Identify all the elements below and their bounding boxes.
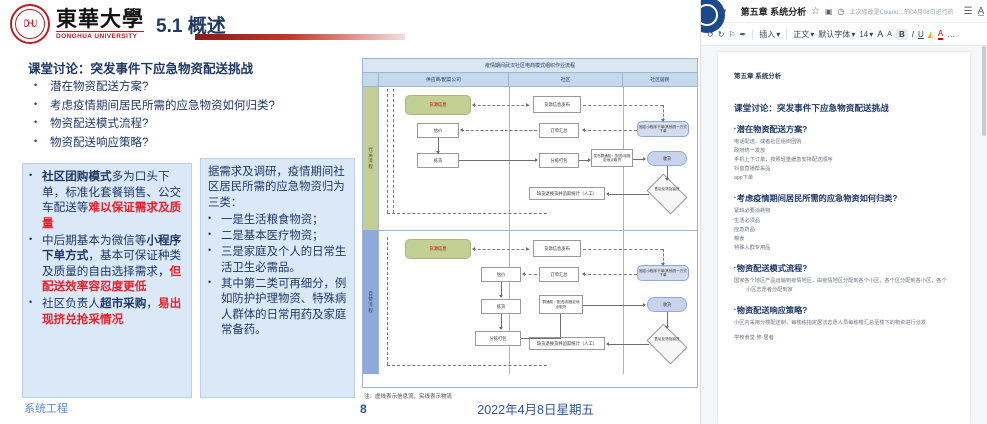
flow-node-publish: 货源信息发布 bbox=[533, 96, 581, 113]
university-seal-icon: DHU bbox=[10, 4, 50, 44]
menu-icon[interactable]: ☰ bbox=[964, 4, 973, 18]
slide-footer-course: 系统工程 bbox=[24, 400, 68, 416]
arrow-icon bbox=[472, 103, 475, 107]
flow-connector bbox=[609, 194, 649, 195]
document-question: 物资配送响应策略? bbox=[734, 304, 956, 316]
flow-node-pick: 拣货 bbox=[417, 153, 459, 168]
arrow-icon bbox=[661, 119, 665, 122]
document-last-modified: 上次修改是Cwario…的04月08日进行的 bbox=[850, 7, 954, 16]
flowchart-column-headers: 供应商/配菜公司 社区 社区居民 bbox=[363, 73, 697, 87]
arrow-icon bbox=[499, 327, 503, 330]
flow-connector bbox=[560, 314, 561, 339]
arrow-icon bbox=[460, 128, 463, 132]
flowchart-band-bottom: 自营流程 bbox=[363, 230, 379, 374]
flow-connector bbox=[521, 338, 561, 339]
flow-connector bbox=[583, 105, 663, 106]
underline-button[interactable]: U bbox=[918, 30, 924, 39]
flowchart-col-residents: 社区居民 bbox=[623, 73, 697, 86]
star-icon[interactable]: ☆ bbox=[811, 4, 820, 18]
document-answer-line: 抖音直播帮采品 bbox=[734, 165, 956, 174]
flow-decision-label: 售后反馈及缺货 bbox=[646, 187, 688, 191]
format-icon[interactable]: A̲ bbox=[978, 4, 985, 18]
arrow-icon bbox=[661, 263, 665, 266]
flow-connector bbox=[583, 130, 637, 131]
document-answer-line: 学校食堂·修·居者 bbox=[734, 334, 956, 343]
callout-box-delivery-modes: 社区团购模式多为口头下单，标准化套餐销售、公交车配送等难以保证需求及质量 中后期… bbox=[22, 163, 192, 398]
flowchart-band-header bbox=[363, 73, 379, 86]
band-label: 自营流程 bbox=[368, 291, 374, 313]
flow-connector bbox=[523, 274, 537, 275]
flow-node-receive: 收货 bbox=[647, 151, 687, 166]
slide-footer-date: 2022年4月8日星期五 bbox=[477, 399, 594, 418]
flow-node-stat: 缺货退换货并追踪统计（人工） bbox=[529, 187, 605, 200]
flow-node-order-summary: 订单汇总 bbox=[539, 123, 579, 138]
font-label: 默认字体 bbox=[818, 29, 850, 40]
flow-connector bbox=[583, 249, 663, 250]
flow-node-confirm-2: 估价 bbox=[481, 267, 521, 282]
chevron-down-icon: ▾ bbox=[851, 30, 855, 39]
font-family-select[interactable]: 默认字体▾ bbox=[818, 29, 855, 40]
flow-node-source: 货源信息 bbox=[405, 95, 471, 115]
document-editor-panel: ⌂ ▾ 第五章 系统分析 ☆ ▣ ◷ 上次修改是Cwario…的04月08日进行… bbox=[701, 0, 987, 424]
decrease-font-icon[interactable]: A bbox=[887, 31, 892, 38]
document-question: 物资配送模式流程? bbox=[734, 262, 956, 274]
flow-node-sort-2: 分拣打包 bbox=[475, 331, 521, 346]
flow-node-order-app-2: 固定小程序下单/其他统一方式下单 bbox=[637, 265, 689, 281]
document-heading: 课堂讨论：突发事件下应急物资配送挑战 bbox=[734, 102, 956, 114]
document-answer-line: 紧缺必要消耗物 bbox=[734, 207, 956, 216]
text-seg: 社区负责人 bbox=[42, 297, 100, 310]
university-logo: 東華大學 DONGHUA UNIVERSITY bbox=[56, 8, 144, 40]
flow-node-sort: 分拣打包 bbox=[539, 153, 579, 168]
chevron-down-icon: ▾ bbox=[869, 30, 873, 39]
document-answer-line: 粮食 bbox=[734, 235, 956, 244]
arrow-icon bbox=[535, 158, 538, 162]
highlight-button[interactable]: ◭ bbox=[928, 30, 934, 39]
logo-ring bbox=[701, 4, 718, 26]
chevron-down-icon: ▾ bbox=[776, 30, 780, 39]
arrow-icon bbox=[526, 247, 529, 251]
flow-connector bbox=[461, 130, 537, 131]
text-seg: 中后期基本为微信等 bbox=[42, 234, 146, 247]
list-item: 社区负责人超市采购，易出现挤兑抢采情况 bbox=[29, 296, 186, 327]
document-question: 考虑疫情期间居民所需的应急物资如何归类? bbox=[734, 192, 956, 204]
flow-node-notify-2: 群通知：配送/用指定地点取货 bbox=[539, 295, 583, 314]
discussion-question-list: 潜在物资配送方案? 考虑疫情期间居民所需的应急物资如何归类? 物资配送模式流程?… bbox=[34, 78, 275, 153]
flow-connector bbox=[387, 89, 388, 213]
divider bbox=[786, 29, 787, 40]
list-item: 二是基本医疗物资； bbox=[208, 228, 348, 244]
arrow-icon bbox=[582, 272, 585, 276]
list-item: 其中第二类可再细分，例如防护护理物资、特殊病人群体的日常用药及家庭常备药。 bbox=[208, 276, 348, 338]
flow-connector bbox=[609, 344, 649, 345]
flow-connector bbox=[583, 274, 637, 275]
arrow-icon bbox=[436, 151, 440, 154]
font-size-select[interactable]: 14▾ bbox=[859, 30, 873, 39]
editor-titlebar: ⌂ ▾ 第五章 系统分析 ☆ ▣ ◷ 上次修改是Cwario…的04月08日进行… bbox=[701, 0, 987, 23]
text-seg: 超市采购 bbox=[100, 297, 146, 310]
flow-node-receive-2: 收货 bbox=[647, 297, 687, 312]
editor-toolbar: ↺ ↻ ⚐ ✒ 插入▾ 正文▾ 默认字体▾ 14▾ A A B I U ◭ A … bbox=[701, 23, 987, 46]
flow-connector bbox=[583, 305, 645, 306]
flow-node-stat-2: 缺货退换货并追踪统计（人工） bbox=[529, 337, 605, 350]
arrow-icon bbox=[499, 295, 503, 298]
presentation-slide: DHU 東華大學 DONGHUA UNIVERSITY 5.1 概述 课堂讨论：… bbox=[0, 0, 701, 424]
list-item: 潜在物资配送方案? bbox=[34, 78, 275, 97]
list-item: 三是家庭及个人的日常生活卫生必需品。 bbox=[208, 244, 348, 276]
university-name-en: DONGHUA UNIVERSITY bbox=[56, 31, 144, 40]
flow-node-pick-2: 拣货 bbox=[481, 299, 521, 314]
style-label: 正文 bbox=[793, 29, 809, 40]
flowchart-col-supplier: 供应商/配菜公司 bbox=[379, 73, 509, 86]
list-item: 中后期基本为微信等小程序下单方式，基本可保证种类及质量的自由选择需求，但配送效率… bbox=[29, 233, 186, 296]
folder-icon[interactable]: ▣ bbox=[825, 4, 833, 18]
flowchart-band-top: 代运流程 bbox=[363, 87, 379, 230]
document-answer-line: 手机上下订单，按照轻重缓急安排配送顺序 bbox=[734, 156, 956, 165]
flow-node-order-app: 固定小程序下单/其他统一方式下单 bbox=[637, 121, 689, 137]
delivery-mode-list: 社区团购模式多为口头下单，标准化套餐销售、公交车配送等难以保证需求及质量 中后期… bbox=[29, 169, 186, 327]
title-underline-bar bbox=[195, 34, 405, 40]
text-seg: 社区团购模式 bbox=[42, 170, 112, 183]
insert-label: 插入 bbox=[759, 29, 775, 40]
arrow-icon bbox=[606, 192, 609, 196]
arrow-icon bbox=[526, 103, 529, 107]
document-answer-line: 应急药品 bbox=[734, 226, 956, 235]
list-item: 一是生活粮食物资； bbox=[208, 212, 348, 228]
category-list: 一是生活粮食物资； 二是基本医疗物资； 三是家庭及个人的日常生活卫生必需品。 其… bbox=[208, 212, 348, 338]
document-answer-line: 电话配送、或者社区组织团购 bbox=[734, 138, 956, 147]
document-title[interactable]: 第五章 系统分析 bbox=[741, 5, 807, 18]
document-answer-line: 小区内采用分楼配送制，每楼栋指定居法志愿人员每栋楼汇总至楼下的物资进行分发 bbox=[734, 319, 956, 328]
flow-node-publish-2: 货源信息发布 bbox=[533, 240, 581, 257]
flowchart-note: 注：虚线表示信息流，实线表示物流 bbox=[364, 392, 452, 400]
arrow-icon bbox=[665, 326, 669, 329]
divider bbox=[752, 29, 753, 40]
discussion-heading: 课堂讨论：突发事件下应急物资配送挑战 bbox=[28, 58, 253, 77]
category-lead-text: 据需求及调研，疫情期间社区居民所需的应急物资归为三类： bbox=[208, 165, 348, 211]
flow-decision-feedback-2 bbox=[646, 323, 687, 364]
chevron-down-icon: ▾ bbox=[810, 30, 814, 39]
bold-button[interactable]: B bbox=[896, 29, 908, 40]
arrow-icon bbox=[606, 342, 609, 346]
callout-box-supply-categories: 据需求及调研，疫情期间社区居民所需的应急物资归为三类： 一是生活粮食物资； 二是… bbox=[200, 158, 355, 398]
document-chapter-title: 第五章 系统分析 bbox=[734, 70, 956, 80]
app-root: DHU 東華大學 DONGHUA UNIVERSITY 5.1 概述 课堂讨论：… bbox=[0, 0, 987, 424]
flowchart-diagram: 疫情期间武汉社区电商模式组织作业流程 供应商/配菜公司 社区 社区居民 代运流程… bbox=[362, 58, 698, 388]
insert-menu[interactable]: 插入▾ bbox=[759, 29, 780, 40]
flow-connector bbox=[459, 160, 537, 161]
text-seg: ， bbox=[146, 297, 158, 310]
flowchart-col-community: 社区 bbox=[509, 73, 623, 86]
flowchart-lane-divider bbox=[379, 230, 697, 231]
flow-decision-label-2: 售后反馈及缺货 bbox=[646, 337, 688, 341]
list-item: 社区团购模式多为口头下单，标准化套餐销售、公交车配送等难以保证需求及质量 bbox=[29, 169, 186, 232]
arrow-icon bbox=[643, 157, 646, 161]
arrow-icon bbox=[522, 272, 525, 276]
document-answer-line: 政府统一发放 bbox=[734, 147, 956, 156]
flow-connector bbox=[387, 365, 547, 366]
flow-connector bbox=[393, 89, 394, 213]
document-answer-line: 国家各个地区产品运输到疫情地区，由疫情地区分配到各个小区，各个区分配到各小区，各… bbox=[734, 277, 956, 286]
increase-font-icon[interactable]: A bbox=[877, 29, 883, 39]
list-item: 物资配送响应策略? bbox=[34, 134, 275, 153]
list-item: 考虑疫情期间居民所需的应急物资如何归类? bbox=[34, 97, 275, 116]
more-options-icon[interactable]: … bbox=[947, 30, 955, 39]
document-answer-line: 生活必须品 bbox=[734, 217, 956, 226]
university-name-cn: 東華大學 bbox=[56, 8, 144, 30]
arrow-icon bbox=[643, 303, 646, 307]
flow-connector bbox=[473, 105, 529, 106]
document-answer-line: 特殊人群专用品 bbox=[734, 244, 956, 253]
arrow-icon bbox=[472, 247, 475, 251]
flow-node-order-summary-2: 订单汇总 bbox=[539, 267, 579, 282]
clock-icon[interactable]: ◷ bbox=[838, 4, 845, 18]
flow-node-confirm: 估价 bbox=[417, 123, 459, 138]
document-page[interactable]: 第五章 系统分析 课堂讨论：突发事件下应急物资配送挑战 潜在物资配送方案? 电话… bbox=[718, 52, 970, 424]
redo-icon[interactable]: ↻ bbox=[718, 30, 725, 39]
font-color-button[interactable]: A bbox=[938, 29, 943, 40]
format-paint-icon[interactable]: ⚐ bbox=[728, 30, 735, 39]
flowchart-title: 疫情期间武汉社区电商模式组织作业流程 bbox=[363, 59, 697, 73]
document-answer-line: 小区志愿者分配到家 bbox=[734, 286, 956, 295]
slide-page-number: 8 bbox=[360, 402, 367, 416]
slide-header: DHU 東華大學 DONGHUA UNIVERSITY 5.1 概述 bbox=[10, 4, 226, 44]
arrow-icon bbox=[582, 128, 585, 132]
flow-connector bbox=[387, 237, 388, 365]
flow-node-source-2: 货源信息 bbox=[405, 239, 471, 259]
italic-button[interactable]: I bbox=[912, 30, 914, 39]
document-answer-line: app下单 bbox=[734, 174, 956, 183]
list-item: 物资配送模式流程? bbox=[34, 115, 275, 134]
band-label: 代运流程 bbox=[368, 147, 374, 169]
seal-text: DHU bbox=[24, 18, 36, 29]
flowchart-body: 代运流程 自营流程 货源信息 货源信息发布 固定小程序下单/其他统一方式下单 订… bbox=[363, 87, 697, 374]
size-label: 14 bbox=[859, 30, 868, 39]
arrow-icon bbox=[665, 178, 669, 181]
flow-connector bbox=[473, 249, 529, 250]
arrow-icon bbox=[588, 158, 591, 162]
paragraph-style-select[interactable]: 正文▾ bbox=[793, 29, 814, 40]
vertical-scrollbar[interactable] bbox=[982, 46, 986, 136]
document-question: 潜在物资配送方案? bbox=[734, 123, 956, 135]
flow-connector bbox=[387, 213, 547, 214]
clear-format-icon[interactable]: ✒ bbox=[740, 30, 747, 39]
flow-node-notify: 发布群通知：配送/用指定地点取货 bbox=[591, 149, 633, 167]
